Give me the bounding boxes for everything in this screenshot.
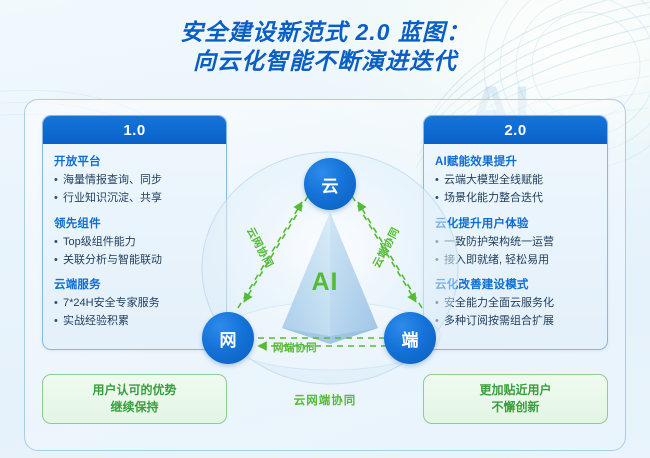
- bullet-dot-icon: •: [54, 173, 63, 188]
- edge-label-network-endpoint: 网端协同: [273, 340, 317, 355]
- node-cloud[interactable]: 云: [304, 158, 356, 210]
- list-item-label: 海量情报查询、同步: [63, 173, 162, 188]
- page-title: 安全建设新范式 2.0 蓝图： 向云化智能不断演进迭代: [0, 18, 650, 76]
- bullet-dot-icon: •: [54, 253, 63, 268]
- node-cloud-label: 云: [322, 172, 339, 197]
- list-item-label: Top级组件能力: [63, 235, 136, 250]
- bullet-dot-icon: •: [54, 191, 63, 206]
- title-line-1: 安全建设新范式 2.0 蓝图：: [0, 18, 650, 47]
- collaboration-diagram: AI 云 网 端 云网协同 云端协同 网端协同 云网端协同: [186, 140, 464, 430]
- conclusion-right-line-1: 更加贴近用户: [479, 382, 551, 399]
- ai-core-label: AI: [186, 268, 464, 297]
- bullet-dot-icon: •: [54, 314, 63, 329]
- node-network-label: 网: [220, 326, 237, 351]
- bullet-dot-icon: •: [54, 296, 63, 311]
- node-endpoint[interactable]: 端: [384, 312, 436, 364]
- conclusion-right-line-2: 不懈创新: [491, 399, 539, 416]
- list-item-label: 行业知识沉淀、共享: [63, 191, 162, 206]
- conclusion-left-line-1: 用户认可的优势: [92, 382, 176, 399]
- list-item-label: 关联分析与智能联动: [63, 253, 162, 268]
- slide-canvas: AI 安全建设新范式 2.0 蓝图： 向云化智能不断演进迭代 1.0 开放平台 …: [0, 0, 650, 458]
- list-item-label: 7*24H安全专家服务: [63, 296, 160, 311]
- node-network[interactable]: 网: [202, 312, 254, 364]
- list-item-label: 实战经验积累: [63, 314, 129, 329]
- diagram-caption: 云网端协同: [186, 392, 464, 408]
- node-endpoint-label: 端: [402, 326, 419, 351]
- conclusion-left-line-2: 继续保持: [110, 399, 158, 416]
- bullet-dot-icon: •: [54, 235, 63, 250]
- title-line-2: 向云化智能不断演进迭代: [0, 47, 650, 76]
